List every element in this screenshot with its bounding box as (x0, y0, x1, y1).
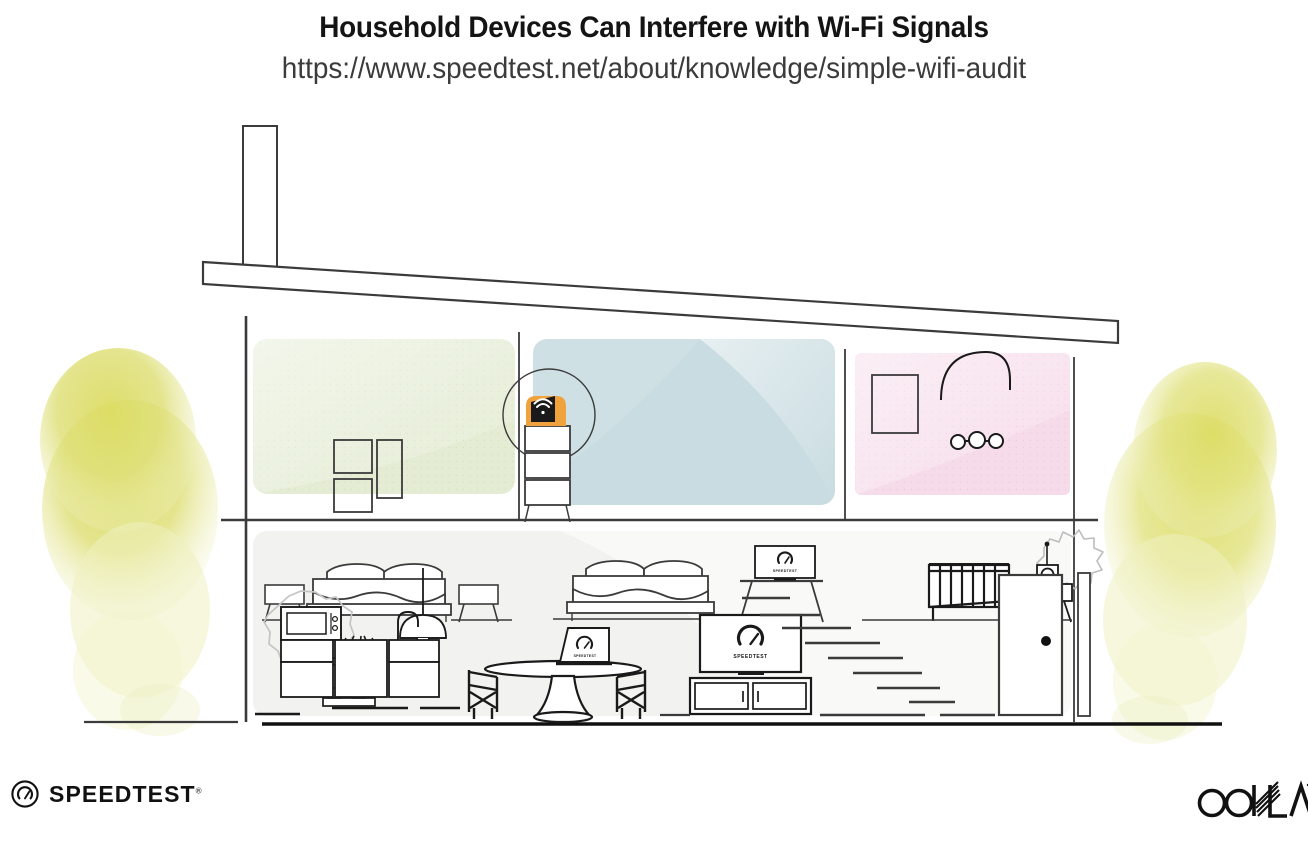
chimney (243, 126, 277, 282)
infographic-page: Household Devices Can Interfere with Wi-… (0, 0, 1308, 861)
front-entry-door (999, 575, 1062, 715)
source-url: https://www.speedtest.net/about/knowledg… (46, 51, 1262, 87)
laptop-speedtest-label: SPEEDTEST (574, 654, 597, 658)
microwave (281, 607, 341, 640)
page-title: Household Devices Can Interfere with Wi-… (46, 8, 1262, 47)
house-cutaway-svg: SPEEDTEST (0, 110, 1308, 750)
router-shelf-unit (525, 426, 570, 522)
room-blue-bedroom (533, 339, 835, 505)
living-tv-speedtest-label: SPEEDTEST (733, 654, 767, 660)
speedtest-wordmark-text: SPEEDTEST (49, 781, 196, 807)
roof (203, 262, 1118, 343)
ookla-logo (1192, 777, 1308, 830)
ookla-wordmark-icon (1192, 777, 1308, 825)
speedtest-wordmark: SPEEDTEST® (49, 781, 202, 808)
tv-media-console (690, 678, 811, 714)
speedtest-gauge-icon (10, 779, 40, 809)
blue-bedroom-tv: SPEEDTEST (755, 546, 815, 581)
house-illustration: SPEEDTEST (0, 110, 1308, 750)
blue-bedroom-bed (567, 561, 714, 621)
kitchen-counters (281, 640, 439, 697)
header: Household Devices Can Interfere with Wi-… (0, 0, 1308, 87)
tree-right (1103, 362, 1277, 744)
narrow-window (1078, 573, 1090, 716)
footer: SPEEDTEST® (0, 751, 1308, 861)
tree-left (40, 348, 218, 736)
wifi-router (526, 396, 566, 426)
living-room-tv: SPEEDTEST (700, 615, 801, 675)
tv-speedtest-label: SPEEDTEST (773, 569, 798, 573)
speedtest-logo: SPEEDTEST® (10, 779, 202, 809)
speedtest-trademark: ® (196, 786, 202, 795)
